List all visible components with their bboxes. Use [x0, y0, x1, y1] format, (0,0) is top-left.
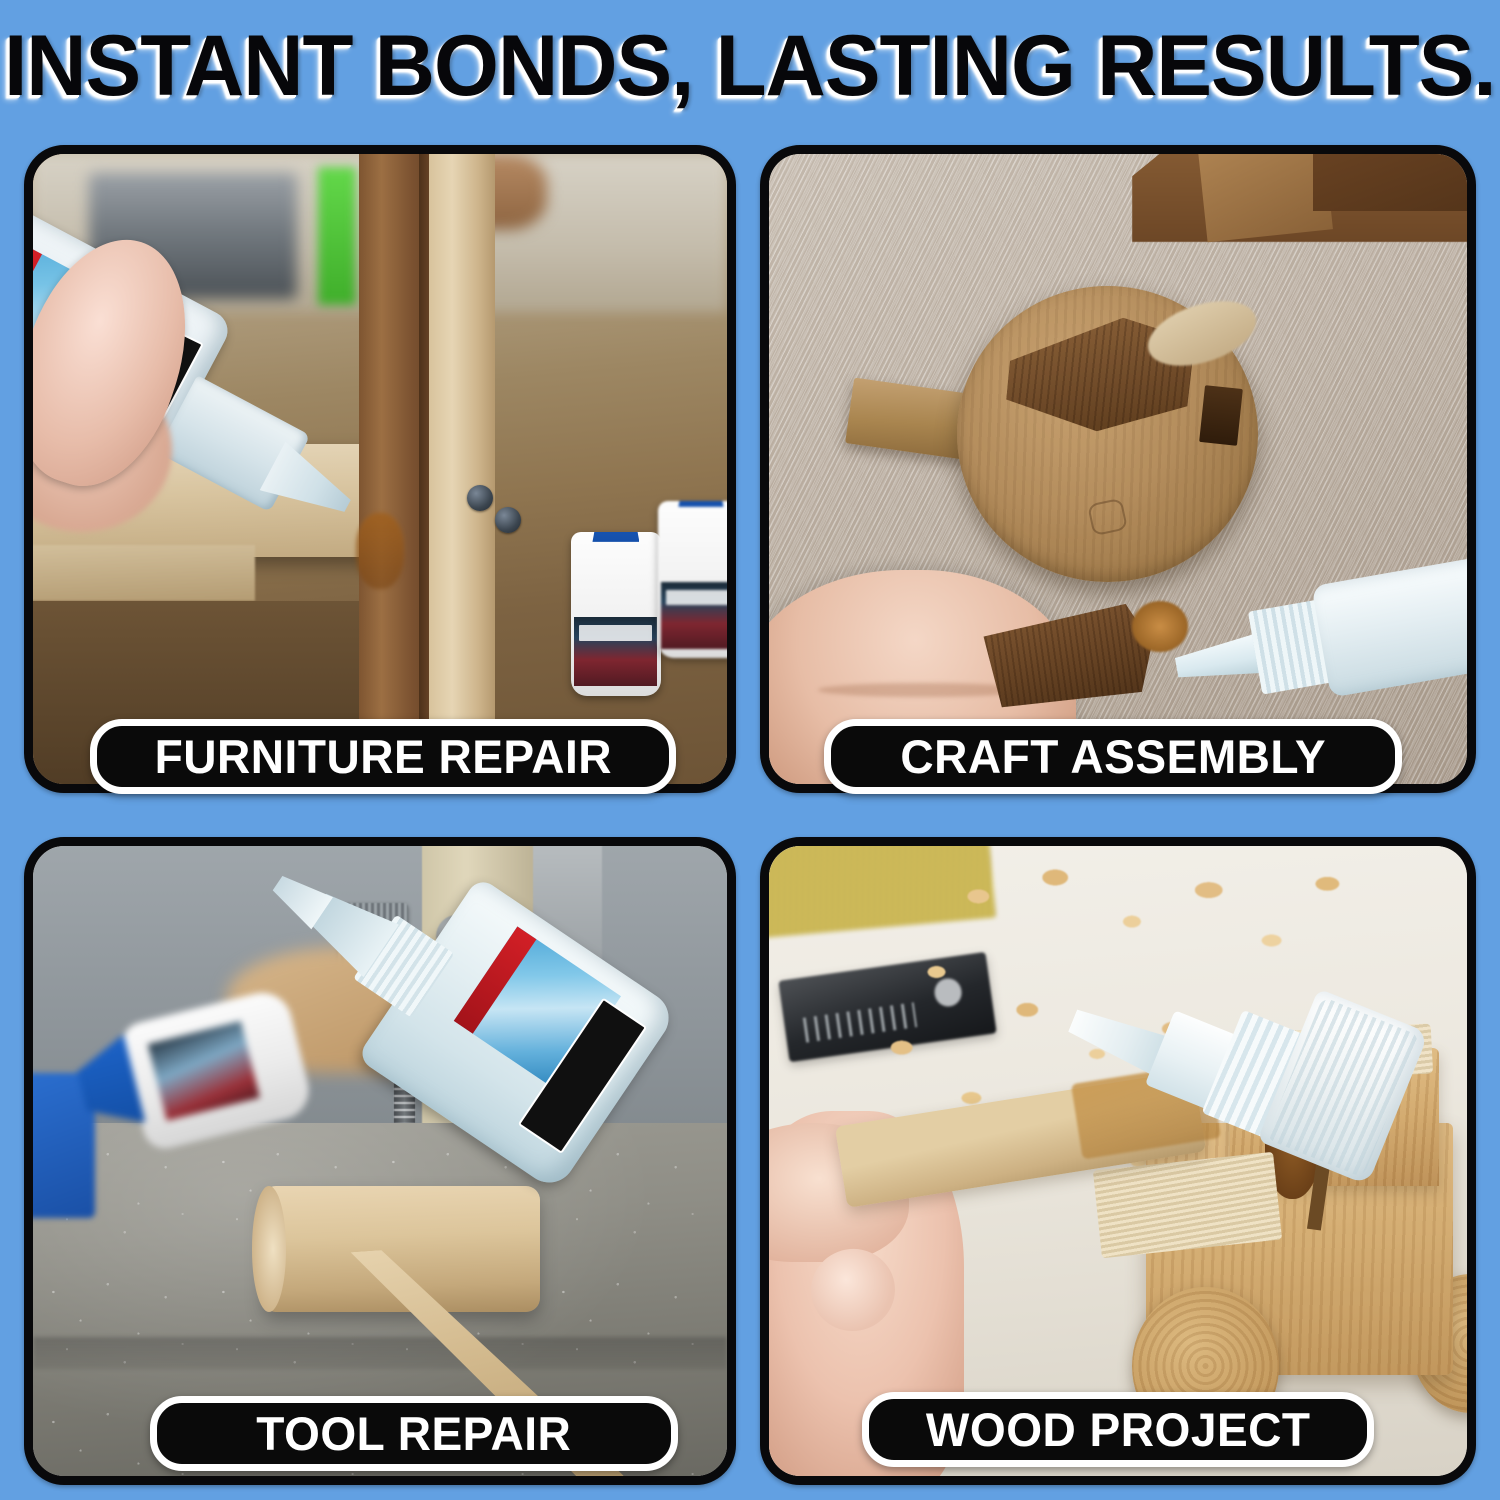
cabinet-post-pale: [429, 154, 495, 784]
label-craft-assembly: CRAFT ASSEMBLY: [824, 719, 1402, 794]
adhesive-bottle-tertiary: [658, 501, 727, 659]
photo-furniture-repair: [33, 154, 727, 784]
bottle-label-small: [574, 617, 657, 686]
panel-wood-project[interactable]: [760, 837, 1476, 1485]
use-case-grid: [24, 145, 1476, 1485]
label-text: TOOL REPAIR: [256, 1410, 571, 1457]
bottle-cap-blue: [678, 501, 723, 507]
label-wood-project: WOOD PROJECT: [862, 1392, 1374, 1467]
label-tool-repair: TOOL REPAIR: [150, 1396, 678, 1471]
screw-head-icon: [467, 485, 493, 511]
label-text: FURNITURE REPAIR: [154, 733, 611, 780]
background-wood-block: [1197, 154, 1332, 242]
photo-tool-repair: [33, 846, 727, 1476]
photo-wood-project: [769, 846, 1467, 1476]
panel-furniture-repair[interactable]: [24, 145, 736, 793]
background-wood-block: [1313, 154, 1467, 211]
photo-craft-assembly: [769, 154, 1467, 784]
panel-tool-repair[interactable]: [24, 837, 736, 1485]
adhesive-bottle-secondary: [571, 532, 661, 696]
mortise-hole: [1199, 385, 1243, 445]
bottle-cap-blue: [592, 532, 639, 542]
glue-drip: [356, 513, 405, 589]
mallet-head-end: [252, 1186, 287, 1312]
label-furniture-repair: FURNITURE REPAIR: [90, 719, 676, 794]
bottle-label-small: [661, 582, 727, 648]
nozzle-tip: [1173, 633, 1266, 688]
label-text: WOOD PROJECT: [926, 1406, 1311, 1453]
page-title: INSTANT BONDS, LASTING RESULTS.: [4, 23, 1496, 109]
label-red-strip: [454, 926, 536, 1033]
disc-engraving: [1087, 497, 1128, 535]
finger-crease: [818, 683, 1027, 697]
table-edge-shadow: [33, 1337, 727, 1369]
green-tool: [318, 167, 356, 306]
label-text: CRAFT ASSEMBLY: [900, 733, 1326, 780]
panel-craft-assembly[interactable]: [760, 145, 1476, 793]
headline-banner: INSTANT BONDS, LASTING RESULTS.: [0, 0, 1500, 132]
screw-head-icon: [495, 507, 521, 533]
